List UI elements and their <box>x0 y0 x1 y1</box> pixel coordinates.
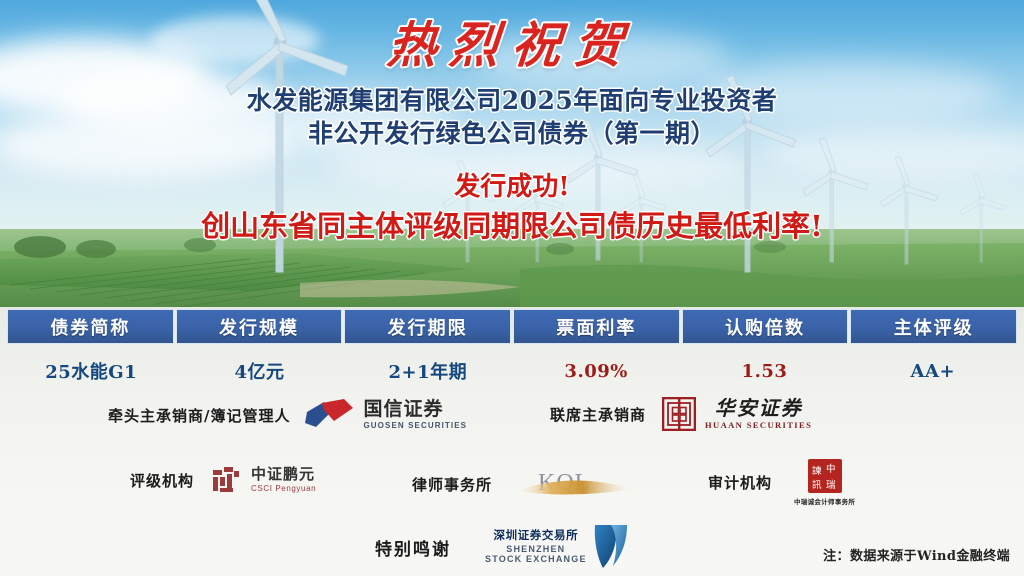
congratulation-poster: 热烈祝贺 水发能源集团有限公司2025年面向专业投资者 非公开发行绿色公司债券（… <box>0 0 1024 576</box>
csci-name-cn: 中证鹏元 <box>251 467 315 482</box>
table-header-cell: 债券简称 <box>7 309 174 344</box>
szse-wordmark: 深圳证券交易所 SHENZHEN STOCK EXCHANGE <box>485 530 587 564</box>
joint-underwriter-label: 联席主承销商 <box>550 404 646 425</box>
table-value-cell: 25水能G1 <box>7 354 175 388</box>
huaan-securities-logo: 华安证券 HUAAN SECURITIES <box>662 397 812 431</box>
guosen-wordmark: 国信证券 GUOSEN SECURITIES <box>363 400 467 430</box>
table-value-row: 25水能G1 4亿元 2+1年期 3.09% 1.53 AA+ <box>7 354 1017 388</box>
table-header-cell: 认购倍数 <box>682 309 849 344</box>
rating-agency-label: 评级机构 <box>130 470 194 491</box>
svg-text:中: 中 <box>826 463 836 475</box>
success-line-2: 创山东省同主体评级同期限公司债历史最低利率! <box>0 207 1024 246</box>
auditor-seal-icon: 諫 中 訊 瑞 <box>808 459 842 493</box>
auditor-group: 审计机构 諫 中 訊 瑞 中瑞诚会计师事务所 <box>708 459 855 506</box>
lead-underwriter-group: 牵头主承销商/簿记管理人 国信证券 GUOSEN SECURITIES <box>108 397 467 433</box>
csci-pengyuan-logo: 中证鹏元 CSCI Pengyuan <box>212 465 316 495</box>
subtitle-line-2: 非公开发行绿色公司债券（第一期） <box>0 117 1024 150</box>
rating-agency-group: 评级机构 中证鹏元 CSCI Pengyuan <box>130 465 316 495</box>
law-firm-group: 律师事务所 KQL <box>412 465 634 503</box>
guosen-mark-icon <box>304 397 356 433</box>
table-value-cell: 4亿元 <box>175 354 343 388</box>
data-source-note: 注：数据来源于Wind金融终端 <box>823 545 1010 564</box>
huaan-name-cn: 华安证券 <box>715 398 803 418</box>
success-line-1: 发行成功! <box>0 168 1024 207</box>
subtitle-line-1: 水发能源集团有限公司2025年面向专业投资者 <box>0 84 1024 117</box>
csci-name-en: CSCI Pengyuan <box>251 485 316 493</box>
szse-logo: 深圳证券交易所 SHENZHEN STOCK EXCHANGE <box>485 523 631 571</box>
szse-name-cn: 深圳证券交易所 <box>493 530 578 542</box>
table-value-cell: 3.09% <box>512 354 680 388</box>
kql-mark-icon: KQL <box>514 465 634 503</box>
szse-name-en2: STOCK EXCHANGE <box>485 555 587 564</box>
table-value-cell: 1.53 <box>680 354 848 388</box>
szse-name-en1: SHENZHEN <box>506 545 565 554</box>
poster-success-text: 发行成功! 创山东省同主体评级同期限公司债历史最低利率! <box>0 168 1024 246</box>
joint-underwriter-group: 联席主承销商 华安证券 HUAAN SECURITIES <box>550 397 812 431</box>
table-header-cell: 发行规模 <box>176 309 343 344</box>
svg-text:諫: 諫 <box>812 465 822 477</box>
huaan-name-en: HUAAN SECURITIES <box>705 421 812 430</box>
lead-underwriter-label: 牵头主承销商/簿记管理人 <box>108 405 290 426</box>
background-photo: 热烈祝贺 水发能源集团有限公司2025年面向专业投资者 非公开发行绿色公司债券（… <box>0 0 1024 307</box>
zhongruicheng-logo: 諫 中 訊 瑞 中瑞诚会计师事务所 <box>794 459 855 506</box>
table-header-cell: 主体评级 <box>850 309 1017 344</box>
huaan-seal-icon <box>662 397 696 431</box>
poster-headline: 热烈祝贺 <box>0 6 1024 77</box>
underwriters-row: 牵头主承销商/簿记管理人 国信证券 GUOSEN SECURITIES 联席主承… <box>0 395 1024 440</box>
guosen-name-en: GUOSEN SECURITIES <box>363 422 467 430</box>
table-value-cell: AA+ <box>849 354 1017 388</box>
poster-subtitle: 水发能源集团有限公司2025年面向专业投资者 非公开发行绿色公司债券（第一期） <box>0 84 1024 150</box>
szse-mark-icon <box>591 523 631 571</box>
csci-wordmark: 中证鹏元 CSCI Pengyuan <box>251 467 316 493</box>
guosen-name-cn: 国信证券 <box>363 400 443 419</box>
table-header-row: 债券简称 发行规模 发行期限 票面利率 认购倍数 主体评级 <box>7 309 1017 344</box>
kql-law-firm-logo: KQL <box>514 465 634 503</box>
table-value-cell: 2+1年期 <box>344 354 512 388</box>
law-firm-label: 律师事务所 <box>412 474 492 495</box>
guosen-securities-logo: 国信证券 GUOSEN SECURITIES <box>304 397 467 433</box>
huaan-wordmark: 华安证券 HUAAN SECURITIES <box>705 398 812 430</box>
special-thanks-group: 特别鸣谢 深圳证券交易所 SHENZHEN STOCK EXCHANGE <box>375 523 631 571</box>
table-header-cell: 票面利率 <box>513 309 680 344</box>
special-thanks-label: 特别鸣谢 <box>375 535 451 560</box>
service-providers-row: 评级机构 中证鹏元 CSCI Pengyuan 律师事务所 <box>0 455 1024 503</box>
table-header-cell: 发行期限 <box>344 309 511 344</box>
csci-mark-icon <box>212 465 244 495</box>
svg-text:瑞: 瑞 <box>826 479 836 491</box>
auditor-label: 审计机构 <box>708 472 772 493</box>
auditor-name-cn: 中瑞诚会计师事务所 <box>794 496 855 506</box>
bond-summary-table: 债券简称 发行规模 发行期限 票面利率 认购倍数 主体评级 25水能G1 4亿元… <box>7 309 1017 388</box>
svg-text:訊: 訊 <box>812 479 822 491</box>
